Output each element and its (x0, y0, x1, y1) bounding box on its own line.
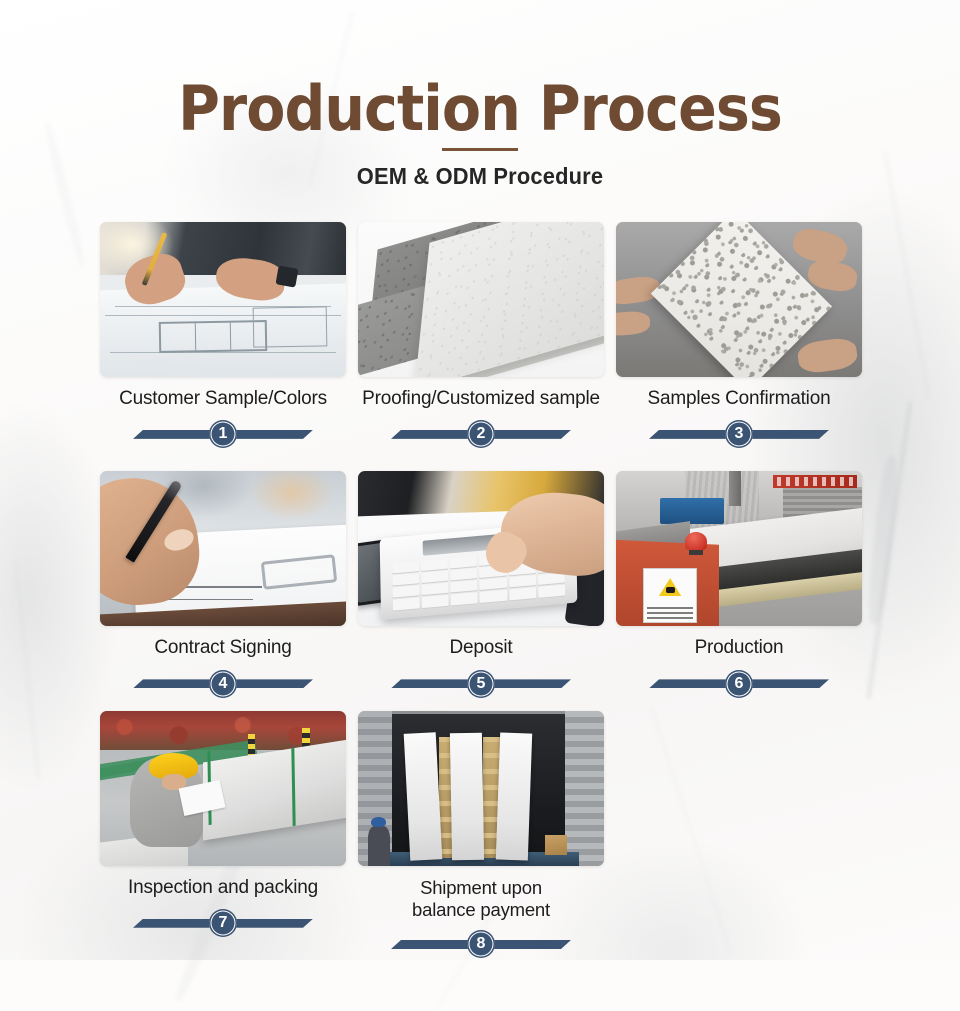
title-divider (442, 148, 518, 151)
step-1-thumbnail[interactable] (100, 222, 346, 377)
process-step-4[interactable]: Contract Signing 4 (100, 471, 346, 698)
step-3-label: Samples Confirmation (616, 388, 862, 410)
step-4-badge: 4 (100, 669, 346, 699)
stone-board-samples-scene (358, 222, 604, 377)
process-step-6[interactable]: Production 6 (616, 471, 862, 698)
step-number-badge: 8 (467, 930, 495, 958)
steps-row-1: Customer Sample/Colors 1 Proofing/C (100, 222, 862, 449)
badge-bar-right (493, 940, 571, 949)
step-number-badge: 2 (467, 420, 495, 448)
process-steps-grid: Customer Sample/Colors 1 Proofing/C (100, 222, 862, 959)
container-shipment-scene (358, 711, 604, 866)
badge-bar-right (493, 430, 571, 439)
process-step-1[interactable]: Customer Sample/Colors 1 (100, 222, 346, 449)
badge-bar-left (133, 430, 211, 439)
process-step-8[interactable]: Shipment upon balance payment 8 (358, 711, 604, 960)
step-6-thumbnail[interactable] (616, 471, 862, 626)
step-5-label: Deposit (358, 637, 604, 659)
calculator-deposit-scene (358, 471, 604, 626)
step-6-badge: 6 (616, 669, 862, 699)
step-8-label: Shipment upon balance payment (358, 877, 604, 921)
steps-row-3: Inspection and packing 7 (100, 711, 862, 960)
page-subtitle: OEM & ODM Procedure (24, 163, 936, 190)
step-3-thumbnail[interactable] (616, 222, 862, 377)
process-step-3[interactable]: Samples Confirmation 3 (616, 222, 862, 449)
step-7-label: Inspection and packing (100, 877, 346, 899)
step-number-badge: 3 (725, 420, 753, 448)
step-number-badge: 6 (725, 670, 753, 698)
badge-bar-left (649, 430, 727, 439)
badge-bar-right (235, 919, 313, 928)
steps-row-2: Contract Signing 4 (100, 471, 862, 698)
badge-bar-left (391, 679, 469, 688)
step-2-thumbnail[interactable] (358, 222, 604, 377)
production-line-scene (616, 471, 862, 626)
step-number-badge: 5 (467, 670, 495, 698)
step-4-label: Contract Signing (100, 637, 346, 659)
badge-bar-right (493, 679, 571, 688)
badge-bar-right (751, 430, 829, 439)
badge-bar-right (235, 679, 313, 688)
warning-sign-icon (643, 568, 697, 624)
step-5-badge: 5 (358, 669, 604, 699)
badge-bar-left (391, 430, 469, 439)
inspection-packing-scene (100, 711, 346, 866)
step-6-label: Production (616, 637, 862, 659)
step-5-thumbnail[interactable] (358, 471, 604, 626)
quartz-sample-in-hand-scene (616, 222, 862, 377)
page-title: Production Process (38, 72, 921, 145)
steps-row-3-spacer (616, 711, 862, 960)
badge-bar-left (649, 679, 727, 688)
step-7-badge: 7 (100, 908, 346, 938)
step-number-badge: 7 (209, 909, 237, 937)
step-8-thumbnail[interactable] (358, 711, 604, 866)
step-1-label: Customer Sample/Colors (100, 388, 346, 410)
step-1-badge: 1 (100, 419, 346, 449)
badge-bar-left (133, 919, 211, 928)
marble-vein (15, 560, 40, 779)
process-step-2[interactable]: Proofing/Customized sample 2 (358, 222, 604, 449)
badge-bar-left (391, 940, 469, 949)
marble-vein (865, 455, 901, 626)
badge-bar-left (133, 679, 211, 688)
step-3-badge: 3 (616, 419, 862, 449)
badge-bar-right (751, 679, 829, 688)
contract-signing-scene (100, 471, 346, 626)
step-2-label: Proofing/Customized sample (358, 388, 604, 410)
step-number-badge: 1 (209, 420, 237, 448)
step-7-thumbnail[interactable] (100, 711, 346, 866)
process-step-7[interactable]: Inspection and packing 7 (100, 711, 346, 960)
process-step-5[interactable]: Deposit 5 (358, 471, 604, 698)
step-4-thumbnail[interactable] (100, 471, 346, 626)
step-2-badge: 2 (358, 419, 604, 449)
production-process-page: Production Process OEM & ODM Procedure C… (0, 0, 960, 960)
step-8-badge: 8 (358, 929, 604, 959)
blueprint-drawing-scene (100, 222, 346, 377)
badge-bar-right (235, 430, 313, 439)
step-number-badge: 4 (209, 670, 237, 698)
